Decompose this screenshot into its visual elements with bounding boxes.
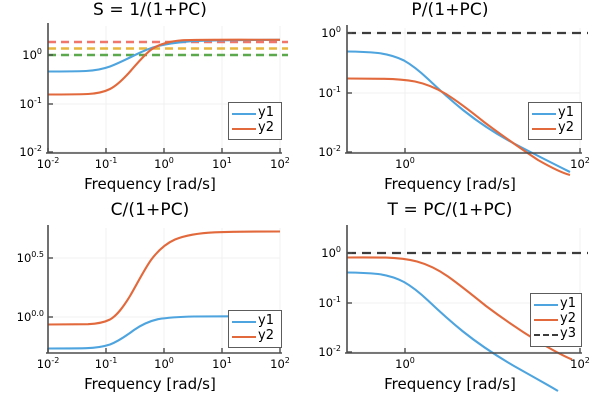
xtick-label: 10-1 <box>95 158 118 170</box>
xtick-label: 101 <box>212 358 232 370</box>
ytick-label: 100 <box>300 247 341 259</box>
panel-title: S = 1/(1+PC) <box>0 0 300 21</box>
legend-label: y3 <box>560 327 576 341</box>
legend-item-y1[interactable]: y1 <box>232 313 278 328</box>
ytick-label: 10-1 <box>300 297 341 309</box>
legend-swatch-y2 <box>532 122 556 134</box>
xtick-label: 100 <box>154 158 174 170</box>
xtick-label: 101 <box>212 158 232 170</box>
x-axis-label: Frequency [rad/s] <box>0 175 300 193</box>
panel-c-over-1-plus-pc: C/(1+PC) <box>0 200 300 400</box>
legend-label: y1 <box>258 314 274 328</box>
x-axis-label: Frequency [rad/s] <box>0 375 300 393</box>
x-axis-label: Frequency [rad/s] <box>300 375 600 393</box>
legend-swatch-y1 <box>232 107 256 119</box>
panel-title: T = PC/(1+PC) <box>300 200 600 221</box>
legend-swatch-y2 <box>232 330 256 342</box>
xtick-label: 102 <box>270 358 290 370</box>
legend-label: y2 <box>258 329 274 343</box>
legend-label: y1 <box>258 106 274 120</box>
ytick-label: 10-1 <box>300 87 341 99</box>
legend[interactable]: y1 y2 <box>528 102 582 140</box>
legend[interactable]: y1 y2 <box>228 102 282 140</box>
xtick-label: 10-2 <box>37 158 60 170</box>
panel-complementary-sensitivity: T = PC/(1+PC) <box>300 200 600 400</box>
legend[interactable]: y1 y2 <box>228 310 282 348</box>
x-axis-label: Frequency [rad/s] <box>300 175 600 193</box>
xtick-label: 10-2 <box>37 358 60 370</box>
legend-item-y2[interactable]: y2 <box>534 311 578 326</box>
xtick-label: 100 <box>395 158 415 170</box>
legend-swatch-y1 <box>534 298 558 310</box>
xtick-label: 100 <box>154 358 174 370</box>
legend-label: y2 <box>558 121 574 135</box>
legend-item-y2[interactable]: y2 <box>232 120 278 135</box>
legend-item-y1[interactable]: y1 <box>532 105 578 120</box>
series-y1-curve <box>347 273 558 392</box>
ytick-label: 10-2 <box>300 346 341 358</box>
legend-swatch-y1 <box>232 315 256 327</box>
ytick-label: 10-2 <box>0 146 42 158</box>
legend-item-y2[interactable]: y2 <box>532 120 578 135</box>
legend[interactable]: y1 y2 y3 <box>530 293 582 347</box>
ytick-label: 100 <box>300 27 341 39</box>
ytick-label: 100.0 <box>0 311 44 323</box>
legend-item-y1[interactable]: y1 <box>534 296 578 311</box>
panel-sensitivity: S = 1/(1+PC) <box>0 0 300 200</box>
xtick-label: 102 <box>270 158 290 170</box>
xtick-label: 102 <box>570 358 590 370</box>
panel-title: C/(1+PC) <box>0 200 300 221</box>
ytick-label: 100.5 <box>0 252 44 264</box>
legend-label: y2 <box>258 121 274 135</box>
legend-label: y2 <box>560 312 576 326</box>
panel-p-over-1-plus-pc: P/(1+PC) 100 <box>300 0 600 200</box>
legend-item-y3[interactable]: y3 <box>534 326 578 341</box>
xtick-label: 100 <box>395 358 415 370</box>
legend-swatch-y2 <box>534 313 558 325</box>
legend-item-y1[interactable]: y1 <box>232 105 278 120</box>
legend-label: y1 <box>560 297 576 311</box>
ytick-label: 10-2 <box>300 146 341 158</box>
legend-swatch-y1 <box>532 107 556 119</box>
ytick-label: 10-1 <box>0 98 42 110</box>
legend-swatch-y2 <box>232 122 256 134</box>
xtick-label: 10-1 <box>95 358 118 370</box>
plot-svg <box>300 0 600 200</box>
xtick-label: 102 <box>570 158 590 170</box>
ytick-label: 100 <box>0 49 42 61</box>
figure-canvas: S = 1/(1+PC) <box>0 0 600 400</box>
legend-label: y1 <box>558 106 574 120</box>
panel-title: P/(1+PC) <box>300 0 600 21</box>
legend-item-y2[interactable]: y2 <box>232 328 278 343</box>
legend-swatch-y3 <box>534 328 558 340</box>
